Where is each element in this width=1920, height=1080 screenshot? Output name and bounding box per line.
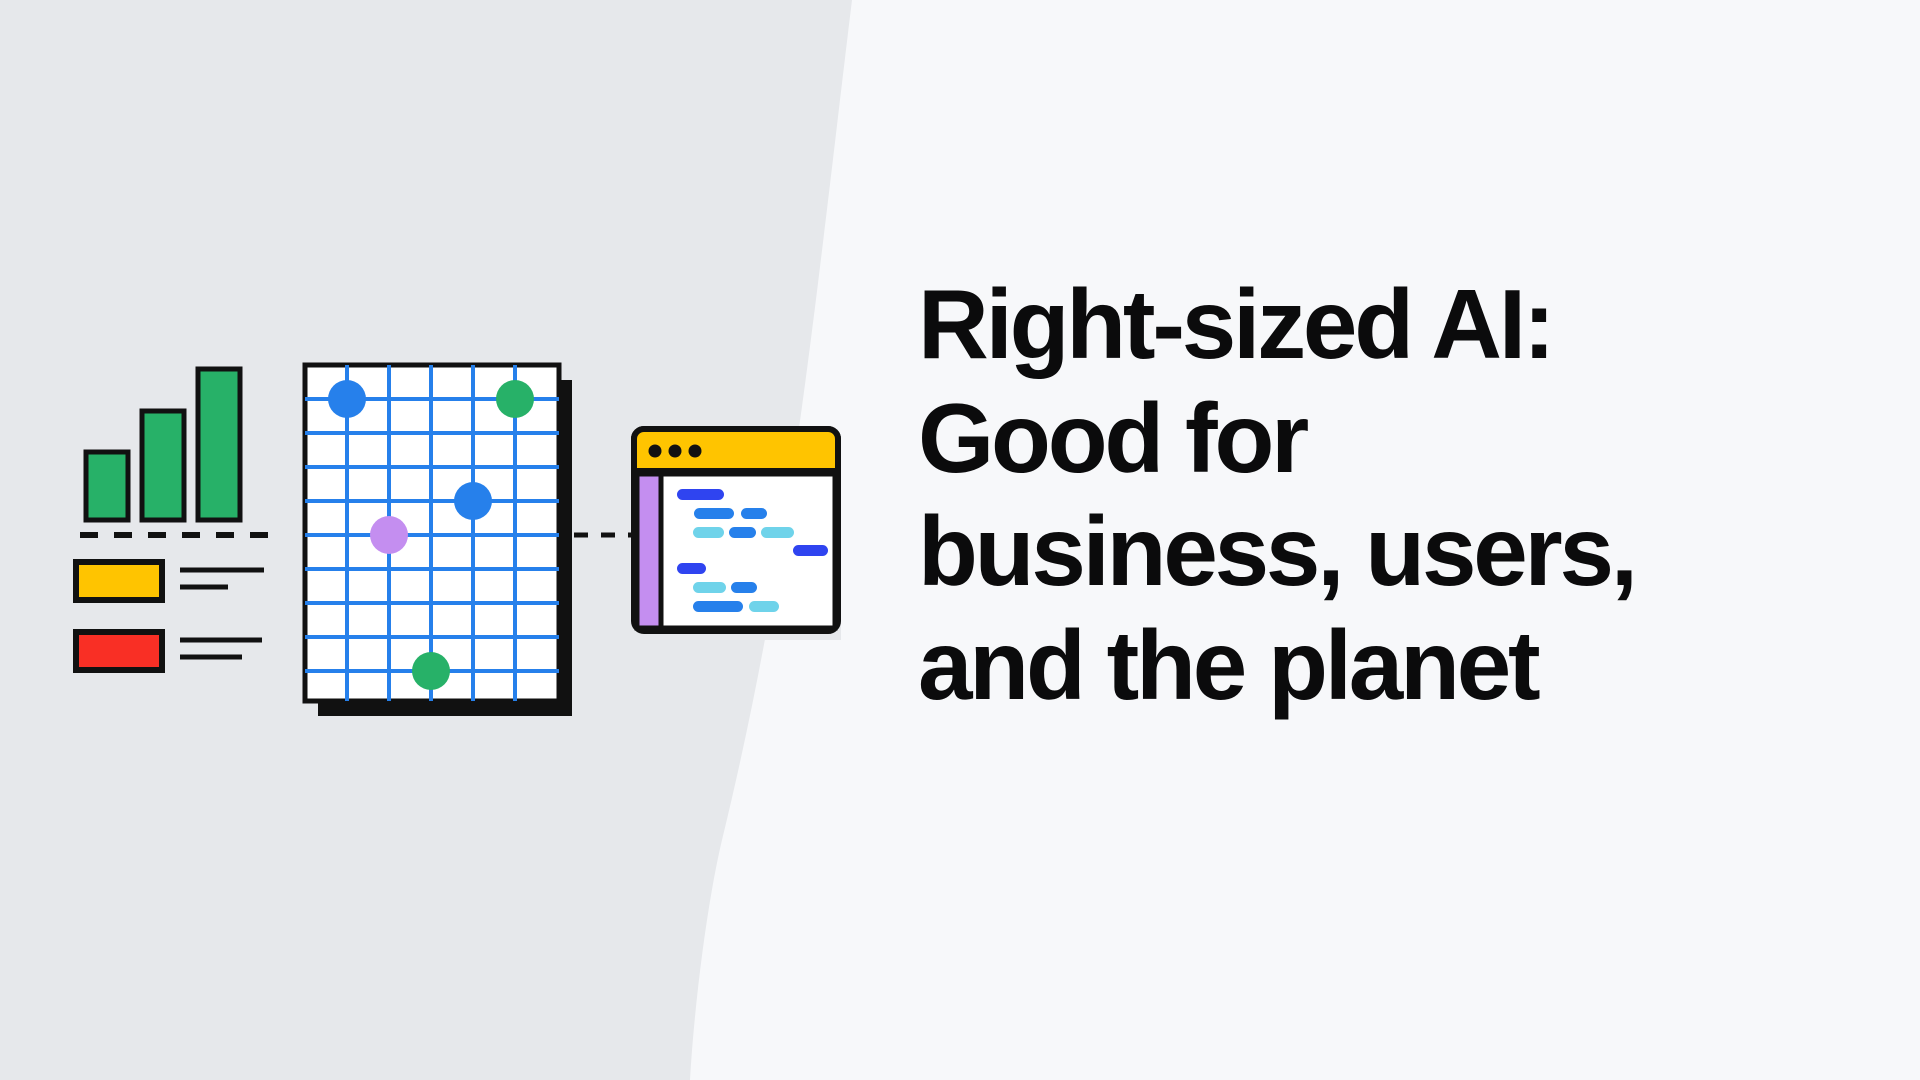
scatter-point-green-2 (412, 652, 450, 690)
yellow-swatch (76, 562, 162, 600)
bar-1 (86, 452, 128, 520)
window-dot-1 (649, 445, 662, 458)
window-dot-3 (689, 445, 702, 458)
page-title: Right-sized AI: Good for business, users… (918, 268, 1838, 723)
code-line (793, 545, 828, 556)
code-window-titlebar (634, 429, 838, 471)
illustration-group (0, 0, 900, 1080)
window-dot-2 (669, 445, 682, 458)
scatter-point-blue-1 (328, 380, 366, 418)
code-window (634, 429, 841, 640)
page-title-line-2: Good for (918, 382, 1838, 496)
bar-3 (198, 369, 240, 520)
code-line (677, 489, 724, 500)
code-line (729, 527, 756, 538)
legend-row-yellow (76, 562, 264, 600)
scatter-point-green-1 (496, 380, 534, 418)
scatter-grid-card (305, 365, 572, 716)
legend-row-red (76, 632, 262, 670)
code-line (741, 508, 767, 519)
code-line (693, 582, 726, 593)
bar-chart (86, 369, 240, 520)
code-window-sidebar (637, 474, 661, 628)
code-line (693, 527, 724, 538)
page-title-line-4: and the planet (918, 609, 1838, 723)
scatter-point-purple-1 (370, 516, 408, 554)
scatter-point-blue-2 (454, 482, 492, 520)
red-swatch (76, 632, 162, 670)
page-title-line-1: Right-sized AI: (918, 268, 1838, 382)
code-line (693, 601, 743, 612)
page-title-line-3: business, users, (918, 495, 1838, 609)
code-line (677, 563, 706, 574)
bar-2 (142, 411, 184, 520)
code-line (731, 582, 757, 593)
code-line (694, 508, 734, 519)
code-line (761, 527, 794, 538)
code-line (749, 601, 779, 612)
window-dots (649, 445, 702, 458)
